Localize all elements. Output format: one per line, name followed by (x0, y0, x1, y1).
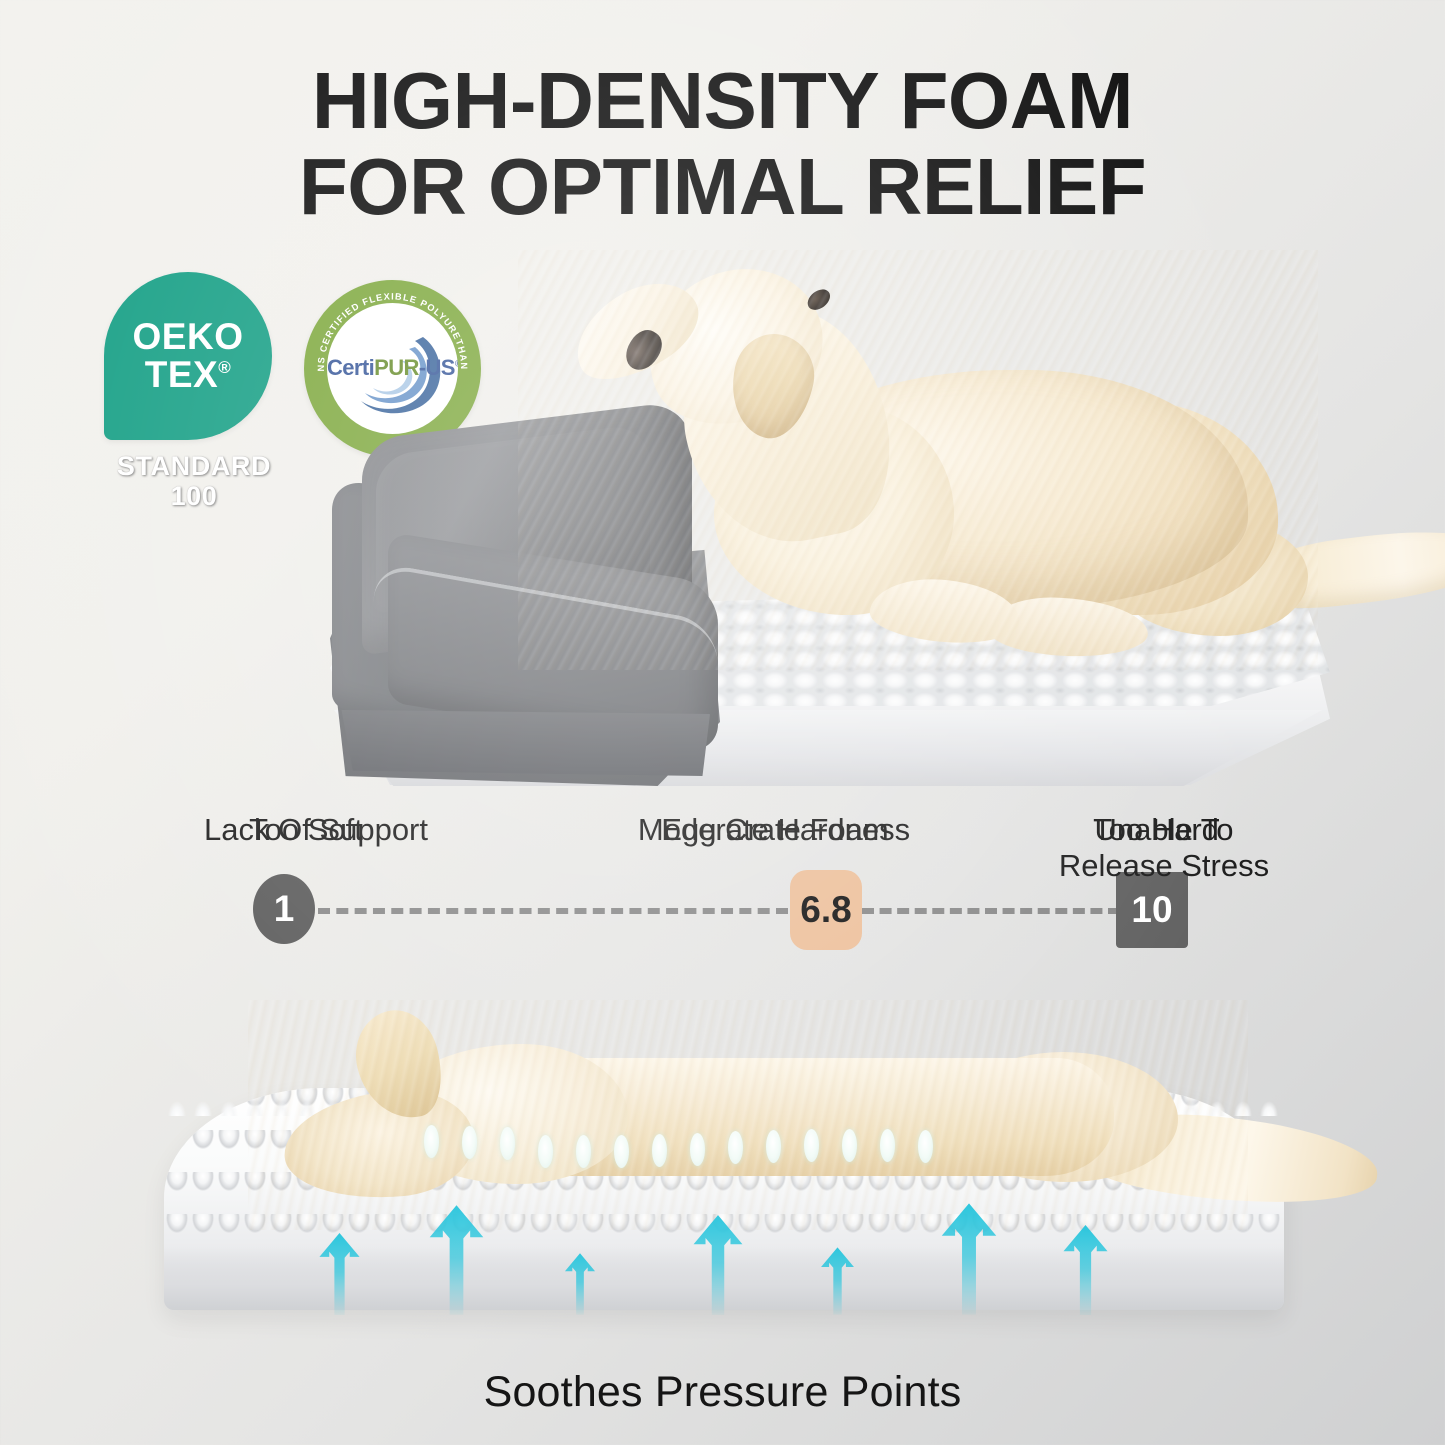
pressure-arrow-icon (940, 1203, 998, 1315)
spine-pressure-dot (766, 1130, 781, 1163)
spine-pressure-dot (804, 1129, 819, 1162)
oeko-tex-registered-mark: ® (218, 359, 231, 376)
page-title: HIGH-DENSITY FOAM FOR OPTIMAL RELIEF (0, 62, 1445, 227)
headline-line-1: HIGH-DENSITY FOAM (0, 62, 1445, 140)
oeko-tex-droplet-icon: OEKO TEX® (104, 272, 272, 440)
spine-pressure-dot (842, 1129, 857, 1162)
bed-base-skirt (334, 710, 710, 776)
scale-node-68: 6.8 (790, 870, 862, 950)
scale-bottom-label-lack-support: Lack Of Support (156, 812, 476, 848)
pressure-arrow-icon (820, 1247, 855, 1315)
spine-pressure-points (424, 1130, 964, 1174)
scale-dash-segment-left (318, 908, 788, 914)
bottom-caption: Soothes Pressure Points (0, 1368, 1445, 1417)
spine-pressure-dot (614, 1135, 629, 1168)
oeko-tex-badge: OEKO TEX® STANDARD 100 (104, 272, 282, 511)
oeko-standard-number: 100 (104, 482, 284, 512)
scale-bottom-label-egg-crate: Egg Crate Foam (590, 812, 960, 848)
pressure-arrow-icon (428, 1205, 485, 1315)
pressure-relief-arrows (300, 1180, 1120, 1315)
spine-pressure-dot (538, 1135, 553, 1168)
spine-pressure-dot (880, 1129, 895, 1162)
scale-dash-segment-right (862, 908, 1120, 914)
oeko-tex-line-2-text: TEX (145, 356, 218, 394)
scale-bottom-label-3-line-2: Release Stress (1059, 848, 1269, 883)
pressure-arrow-icon (318, 1233, 361, 1315)
oeko-standard-text: STANDARD 100 (104, 452, 284, 511)
headline-line-2: FOR OPTIMAL RELIEF (0, 148, 1445, 226)
pressure-arrow-icon (692, 1215, 744, 1315)
pressure-arrow-icon (564, 1253, 596, 1315)
spine-pressure-dot (728, 1131, 743, 1164)
spine-pressure-dot (424, 1125, 439, 1158)
spine-pressure-dot (462, 1126, 477, 1159)
pressure-arrow-icon (1062, 1225, 1109, 1315)
hardness-scale: Too Soft Moderate Hardness Too Hard 1 6.… (0, 812, 1445, 1012)
scale-bottom-label-3-line-1: Unable To (1094, 812, 1233, 847)
oeko-tex-line-1: OEKO (133, 318, 244, 356)
labrador-dog-sitting (518, 250, 1318, 670)
oeko-standard-label: STANDARD (117, 451, 271, 481)
scale-bottom-label-unable-release: Unable To Release Stress (1030, 812, 1298, 884)
oeko-tex-line-2: TEX® (145, 356, 232, 394)
spine-pressure-dot (918, 1130, 933, 1163)
spine-pressure-dot (652, 1134, 667, 1167)
hero-product-photo (300, 240, 1330, 810)
dog-eye (804, 285, 834, 314)
scale-node-1: 1 (253, 874, 315, 944)
spine-pressure-dot (500, 1127, 515, 1160)
spine-pressure-dot (690, 1133, 705, 1166)
spine-pressure-dot (576, 1135, 591, 1168)
